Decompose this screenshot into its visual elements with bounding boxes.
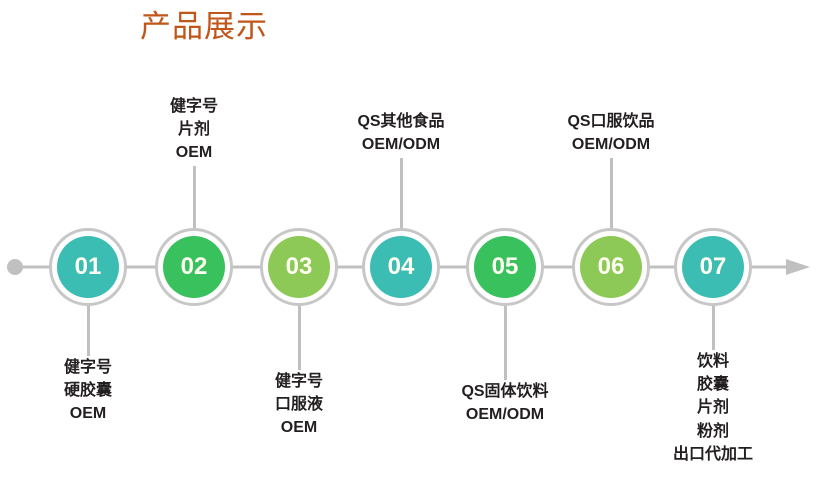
node-disc-02: 02 [163, 236, 225, 298]
timeline-node-02[interactable]: 02 [155, 228, 233, 306]
connector-stem-04 [400, 158, 403, 234]
connector-stem-01 [87, 302, 90, 356]
timeline-node-04[interactable]: 04 [362, 228, 440, 306]
start-dot [7, 259, 23, 275]
node-disc-06: 06 [580, 236, 642, 298]
timeline-node-05[interactable]: 05 [466, 228, 544, 306]
node-disc-03: 03 [268, 236, 330, 298]
node-disc-01: 01 [57, 236, 119, 298]
step-label-line: 饮料 [583, 350, 826, 373]
timeline-node-07[interactable]: 07 [674, 228, 752, 306]
node-number-06: 06 [598, 255, 625, 279]
node-number-07: 07 [700, 255, 727, 279]
step-label-line: 出口代加工 [583, 443, 826, 466]
node-disc-04: 04 [370, 236, 432, 298]
connector-stem-03 [298, 302, 301, 370]
step-label-line: 胶囊 [583, 373, 826, 396]
timeline-node-03[interactable]: 03 [260, 228, 338, 306]
step-label-line: 片剂 [583, 396, 826, 419]
node-disc-05: 05 [474, 236, 536, 298]
step-label-07: 饮料胶囊片剂粉剂出口代加工 [583, 350, 826, 466]
connector-stem-05 [504, 302, 507, 380]
step-label-line: QS口服饮品 [481, 110, 741, 133]
connector-stem-02 [193, 166, 196, 234]
process-timeline: 01020304050607 健字号硬胶囊OEM健字号片剂OEM健字号口服液OE… [0, 0, 826, 489]
node-number-01: 01 [75, 255, 102, 279]
connector-stem-06 [610, 158, 613, 234]
node-number-03: 03 [286, 255, 313, 279]
step-label-line: 粉剂 [583, 420, 826, 443]
timeline-node-06[interactable]: 06 [572, 228, 650, 306]
node-number-02: 02 [181, 255, 208, 279]
node-number-05: 05 [492, 255, 519, 279]
step-label-06: QS口服饮品OEM/ODM [481, 110, 741, 156]
timeline-node-01[interactable]: 01 [49, 228, 127, 306]
step-label-line: OEM/ODM [481, 133, 741, 156]
arrow-head [786, 259, 810, 275]
connector-stem-07 [712, 302, 715, 350]
node-number-04: 04 [388, 255, 415, 279]
node-disc-07: 07 [682, 236, 744, 298]
